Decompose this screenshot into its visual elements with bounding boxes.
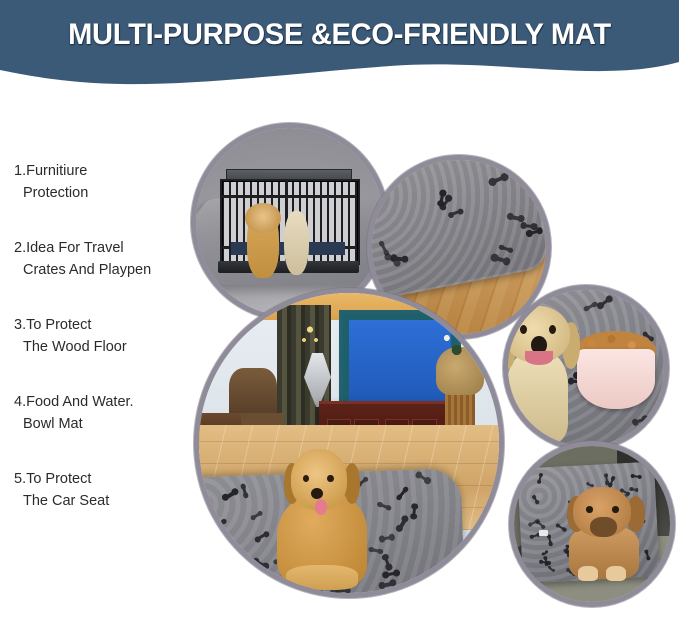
bone-pattern-icon [524, 224, 535, 228]
food-bowl-photo [508, 290, 664, 446]
puppy [567, 487, 645, 577]
bone-pattern-icon [605, 475, 608, 483]
bone-pattern-icon [609, 477, 614, 485]
bone-pattern-icon [501, 246, 511, 252]
bone-pattern-icon [242, 486, 247, 495]
bone-pattern-icon [530, 520, 538, 525]
bone-pattern-icon [383, 557, 390, 568]
feature-label-line2: Bowl Mat [14, 413, 209, 435]
list-item: 2.Idea For Travel Crates And Playpen [14, 237, 209, 281]
feature-label-line2: The Car Seat [14, 490, 209, 512]
car-seat-scene [514, 446, 670, 602]
bone-pattern-icon [385, 572, 397, 577]
bone-pattern-icon [544, 558, 547, 565]
feature-number: 2. [14, 240, 26, 256]
bone-pattern-icon [210, 590, 218, 593]
list-item: 4.Food And Water. Bowl Mat [14, 391, 209, 435]
puppy-paw [606, 566, 626, 580]
bone-pattern-icon [492, 174, 505, 182]
dog-eye [327, 475, 333, 482]
feature-number: 1. [14, 163, 26, 179]
bone-pattern-icon [646, 551, 650, 558]
feature-label-line2: Crates And Playpen [14, 259, 209, 281]
bone-pattern-icon [539, 475, 543, 482]
list-item: 1.Furnitiure Protection [14, 160, 209, 204]
bone-pattern-icon [412, 506, 416, 517]
feature-number: 3. [14, 317, 26, 333]
bone-pattern-icon [494, 255, 507, 262]
bone-pattern-icon [199, 582, 200, 593]
feature-label: To Protect [26, 471, 91, 487]
golden-retriever [508, 306, 580, 443]
puppy-paw [578, 566, 598, 580]
puppy-eye [586, 506, 593, 512]
mat-tag [539, 530, 548, 536]
dog-face [245, 203, 281, 233]
bone-pattern-icon [599, 298, 610, 308]
list-item: 5.To Protect The Car Seat [14, 468, 209, 512]
chandelier [298, 317, 322, 359]
feature-number: 5. [14, 471, 26, 487]
list-item: 3.To Protect The Wood Floor [14, 314, 209, 358]
product-infographic: MULTI-PURPOSE &ECO-FRIENDLY MAT 1.Furnit… [0, 0, 679, 642]
header-banner: MULTI-PURPOSE &ECO-FRIENDLY MAT [0, 0, 679, 98]
bone-pattern-icon [379, 503, 388, 509]
bone-pattern-icon [382, 581, 394, 587]
bone-pattern-icon [331, 591, 336, 593]
bone-pattern-icon [398, 164, 410, 172]
bone-pattern-icon [393, 256, 405, 261]
bone-pattern-icon [398, 517, 407, 529]
bone-pattern-icon [451, 209, 462, 215]
feature-list: 1.Furnitiure Protection 2.Idea For Trave… [14, 160, 209, 545]
bone-pattern-icon [398, 488, 406, 497]
bone-pattern-icon [257, 533, 267, 541]
dog-nose [311, 488, 323, 499]
feature-label: Food And Water. [26, 394, 133, 410]
feature-label-line2: Protection [14, 182, 209, 204]
golden-retriever [277, 449, 367, 587]
bone-pattern-icon [542, 551, 547, 555]
feature-number: 4. [14, 394, 26, 410]
page-title: MULTI-PURPOSE &ECO-FRIENDLY MAT [10, 18, 669, 52]
bone-pattern-icon [635, 417, 646, 424]
bone-pattern-icon [510, 215, 522, 221]
dog-body-secondary [284, 211, 308, 275]
dog-legs [286, 565, 358, 590]
bone-pattern-icon [586, 303, 595, 310]
food-bowl [577, 349, 655, 408]
living-room-photo [199, 293, 499, 593]
car-seat-photo [514, 446, 670, 602]
bone-pattern-icon [254, 559, 266, 567]
bone-pattern-icon [372, 548, 382, 553]
bone-pattern-icon [224, 491, 236, 500]
bone-pattern-icon [548, 536, 552, 544]
feature-label: Furnitiure [26, 163, 87, 179]
bone-pattern-icon [557, 525, 565, 531]
bone-pattern-icon [380, 160, 387, 167]
bone-pattern-icon [382, 536, 393, 541]
dog-chest [508, 352, 568, 443]
food-bowl-scene [508, 290, 664, 446]
flower-arrangement [427, 314, 493, 362]
bone-pattern-icon [252, 512, 261, 519]
bone-pattern-icon [532, 533, 539, 537]
puppy-eye [612, 506, 619, 512]
bone-pattern-icon [534, 496, 539, 502]
crate-scene [196, 128, 384, 316]
bone-pattern-icon [372, 176, 384, 184]
bone-pattern-icon [418, 474, 429, 483]
feature-label: To Protect [26, 317, 91, 333]
feature-label-line2: The Wood Floor [14, 336, 209, 358]
living-room-scene [199, 293, 499, 593]
bone-pattern-icon [439, 193, 444, 204]
puppy-muzzle [590, 517, 617, 537]
dog-mouth [525, 351, 553, 365]
bone-pattern-icon [633, 475, 640, 478]
crate-photo [196, 128, 384, 316]
bone-pattern-icon [381, 243, 388, 253]
feature-label: Idea For Travel [26, 240, 124, 256]
bone-pattern-icon [280, 588, 285, 593]
bone-pattern-icon [548, 566, 553, 571]
